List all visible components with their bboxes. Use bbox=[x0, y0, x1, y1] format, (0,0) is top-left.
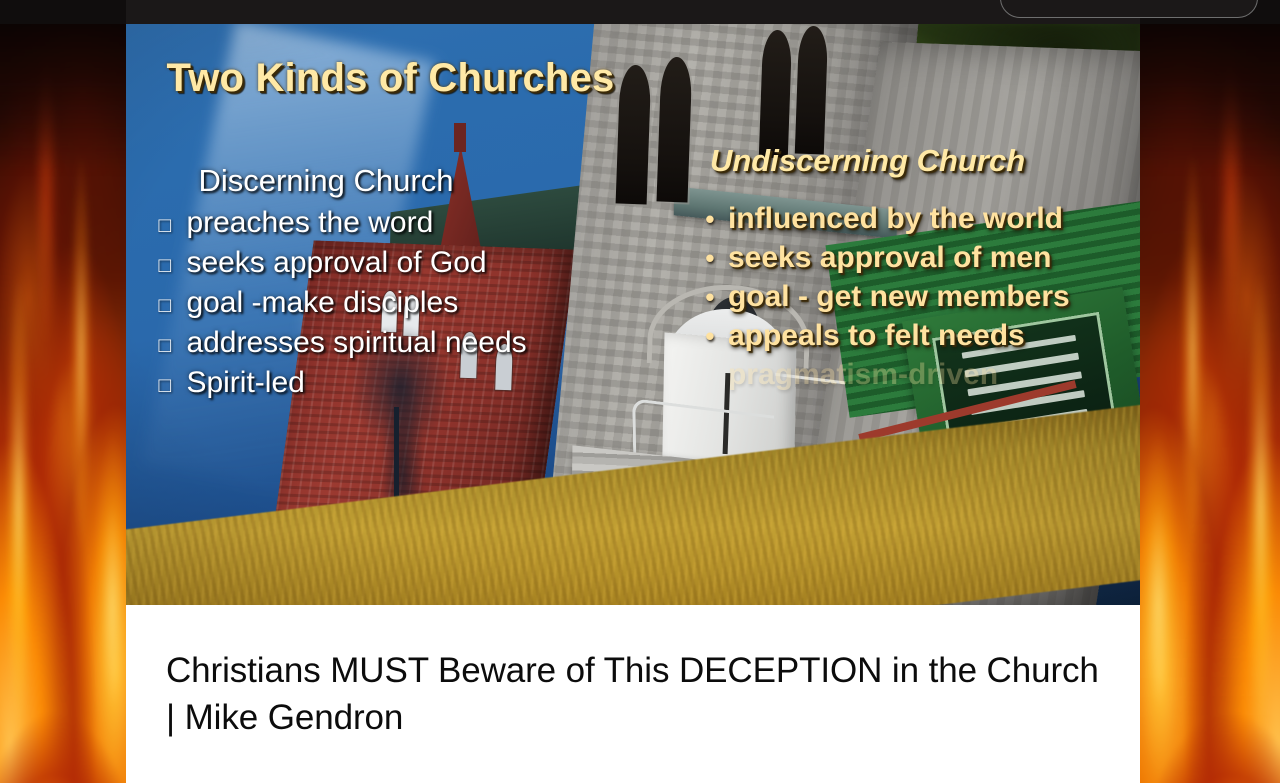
undiscerning-church-list: • influenced by the world • seeks approv… bbox=[704, 199, 1130, 394]
gothic-window bbox=[795, 26, 829, 155]
search-input[interactable] bbox=[1000, 0, 1258, 18]
list-item-label: Spirit-led bbox=[186, 363, 304, 403]
list-item-label: goal - get new members bbox=[728, 277, 1070, 316]
discerning-church-list: □ preaches the word □ seeks approval of … bbox=[158, 203, 635, 402]
round-bullet-icon: • bbox=[704, 284, 716, 310]
flame-dark-top-left bbox=[0, 0, 130, 172]
round-bullet-icon: • bbox=[704, 206, 716, 232]
undiscerning-church-heading: Undiscerning Church bbox=[710, 143, 1130, 179]
list-item-label: preaches the word bbox=[186, 203, 433, 243]
list-item: • appeals to felt needs bbox=[704, 316, 1130, 355]
list-item: • goal - get new members bbox=[704, 277, 1130, 316]
list-item: □ preaches the word bbox=[158, 203, 635, 243]
round-bullet-icon: • bbox=[704, 245, 716, 271]
slide-title: Two Kinds of Churches bbox=[167, 56, 615, 101]
gothic-window bbox=[759, 29, 793, 158]
video-info-card: Christians MUST Beware of This DECEPTION… bbox=[126, 605, 1140, 783]
square-bullet-icon: □ bbox=[158, 335, 174, 356]
list-item: • seeks approval of men bbox=[704, 238, 1130, 277]
square-bullet-icon: □ bbox=[158, 375, 174, 396]
page-content: Two Kinds of Churches Discerning Church … bbox=[126, 24, 1140, 783]
list-item: □ goal -make disciples bbox=[158, 283, 635, 323]
gothic-window bbox=[657, 56, 693, 202]
discerning-church-heading: Discerning Church bbox=[198, 163, 635, 199]
discerning-church-column: Discerning Church □ preaches the word □ … bbox=[158, 163, 635, 402]
browser-top-bar bbox=[0, 0, 1280, 24]
square-bullet-icon: □ bbox=[158, 215, 174, 236]
list-item-label: influenced by the world bbox=[728, 199, 1063, 238]
round-bullet-icon: • bbox=[704, 323, 716, 349]
flame-column-left bbox=[0, 0, 130, 783]
flame-column-right bbox=[1138, 0, 1280, 783]
list-item-label: seeks approval of men bbox=[728, 238, 1051, 277]
flame-dark-top-right bbox=[1138, 0, 1280, 172]
spire-finial bbox=[454, 123, 466, 152]
list-item: □ seeks approval of God bbox=[158, 243, 635, 283]
video-thumbnail[interactable]: Two Kinds of Churches Discerning Church … bbox=[126, 24, 1140, 605]
list-item-label: pragmatism-driven bbox=[728, 355, 998, 394]
browser-top-bar-inner bbox=[126, 0, 1140, 24]
list-item: □ addresses spiritual needs bbox=[158, 323, 635, 363]
list-item-label: goal -make disciples bbox=[186, 283, 458, 323]
list-item-label: seeks approval of God bbox=[186, 243, 486, 283]
list-item: pragmatism-driven bbox=[704, 355, 1130, 394]
square-bullet-icon: □ bbox=[158, 255, 174, 276]
undiscerning-church-column: Undiscerning Church • influenced by the … bbox=[704, 143, 1130, 394]
square-bullet-icon: □ bbox=[158, 295, 174, 316]
list-item: • influenced by the world bbox=[704, 199, 1130, 238]
list-item: □ Spirit-led bbox=[158, 363, 635, 403]
video-title[interactable]: Christians MUST Beware of This DECEPTION… bbox=[166, 648, 1110, 742]
list-item-label: addresses spiritual needs bbox=[186, 323, 526, 363]
list-item-label: appeals to felt needs bbox=[728, 316, 1025, 355]
